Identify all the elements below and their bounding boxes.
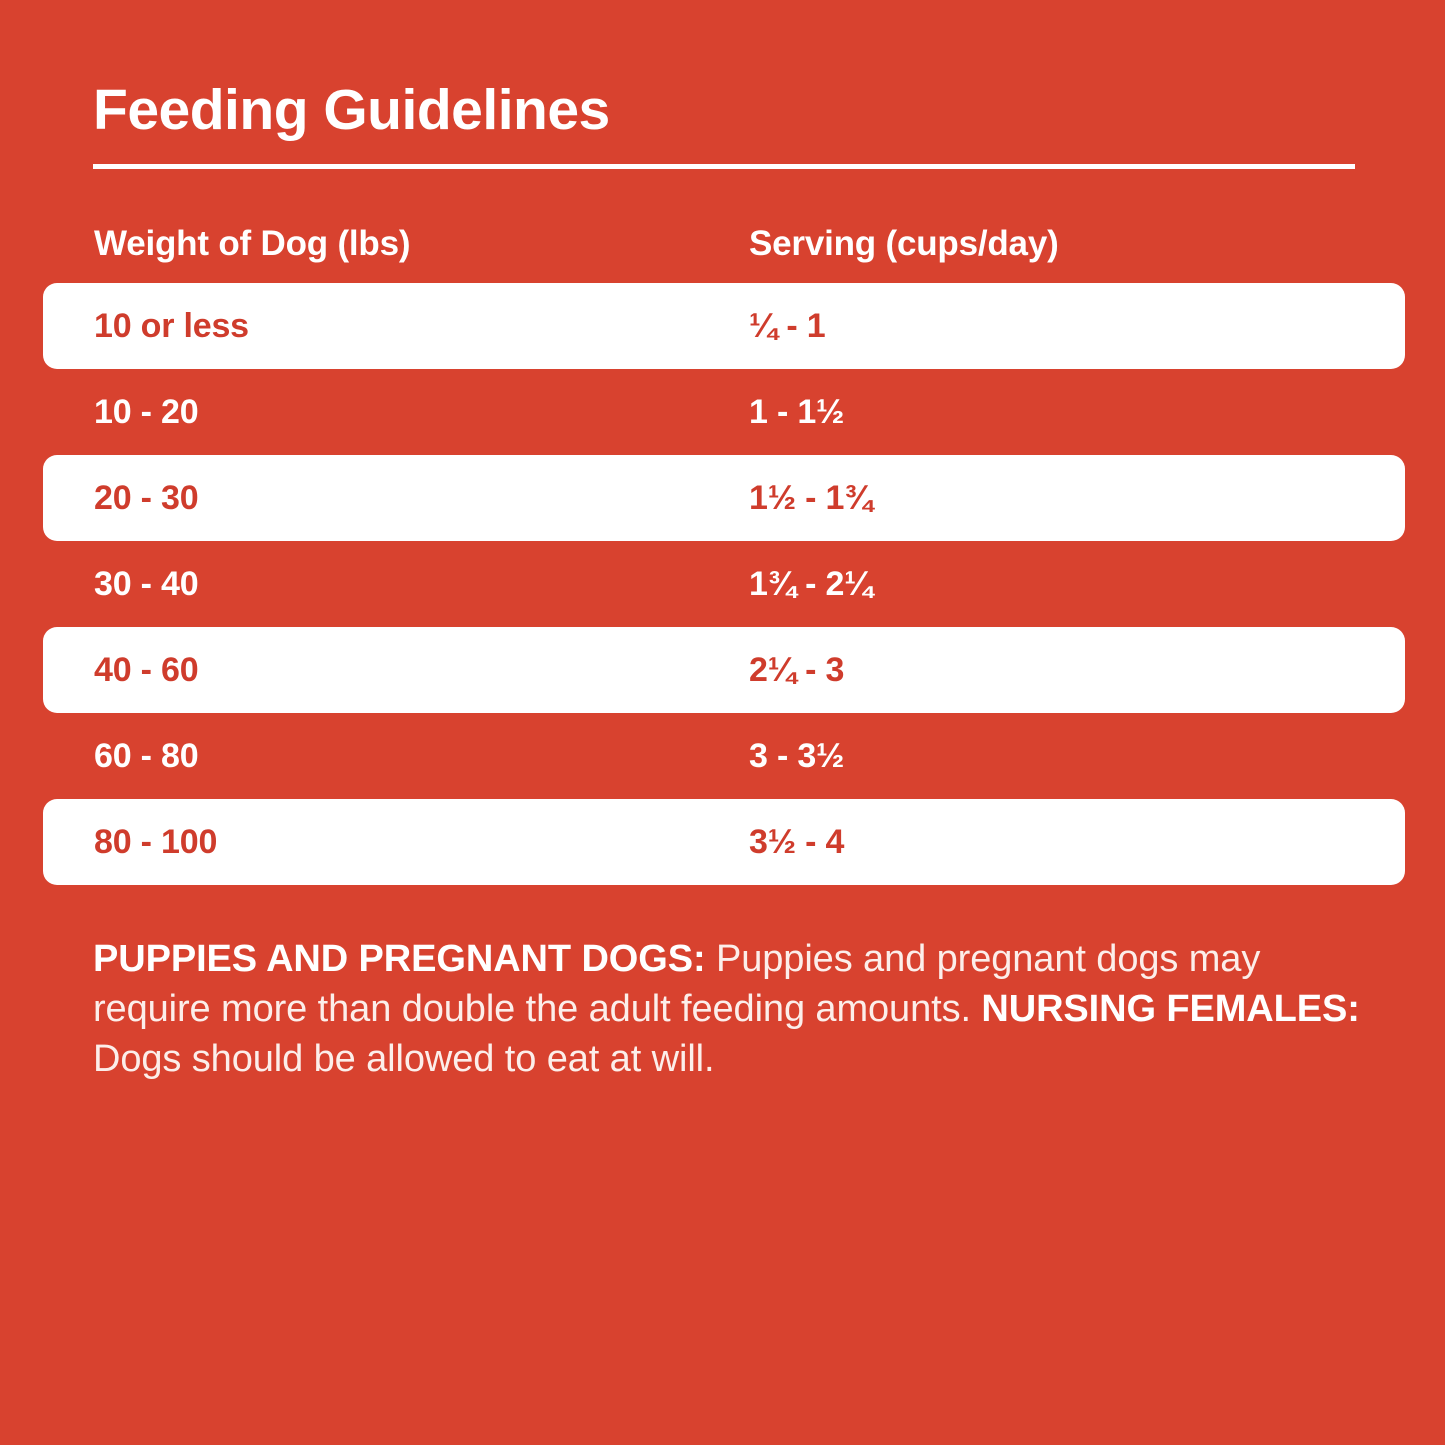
feeding-guidelines-panel: Feeding Guidelines Weight of Dog (lbs) S… [0,0,1445,1445]
cell-serving: 1¾ - 2¼ [749,565,1405,604]
table-header-row: Weight of Dog (lbs) Serving (cups/day) [43,205,1405,283]
cell-weight: 60 - 80 [94,737,749,776]
cell-serving: 3 - 3½ [749,737,1405,776]
table-row: 80 - 100 3½ - 4 [43,799,1405,885]
table-row: 20 - 30 1½ - 1¾ [43,455,1405,541]
cell-weight: 10 - 20 [94,393,749,432]
column-header-weight: Weight of Dog (lbs) [94,224,749,264]
cell-serving: ¼ - 1 [749,307,1405,346]
table-row: 40 - 60 2¼ - 3 [43,627,1405,713]
title-divider [93,164,1355,169]
cell-serving: 1 - 1½ [749,393,1405,432]
cell-weight: 20 - 30 [94,479,749,518]
table-row: 10 or less ¼ - 1 [43,283,1405,369]
footnote-label-puppies: PUPPIES AND PREGNANT DOGS: [93,938,706,980]
cell-weight: 10 or less [94,307,749,346]
table-row: 60 - 80 3 - 3½ [43,713,1405,799]
table-row: 30 - 40 1¾ - 2¼ [43,541,1405,627]
cell-serving: 1½ - 1¾ [749,479,1405,518]
cell-weight: 30 - 40 [94,565,749,604]
table-row: 10 - 20 1 - 1½ [43,369,1405,455]
column-header-serving: Serving (cups/day) [749,224,1405,264]
footnote: PUPPIES AND PREGNANT DOGS: Puppies and p… [93,934,1363,1084]
cell-weight: 40 - 60 [94,651,749,690]
footnote-text-nursing: Dogs should be allowed to eat at will. [93,1038,714,1080]
cell-serving: 3½ - 4 [749,823,1405,862]
footnote-label-nursing: NURSING FEMALES: [981,988,1359,1030]
cell-serving: 2¼ - 3 [749,651,1405,690]
feeding-table: Weight of Dog (lbs) Serving (cups/day) 1… [43,205,1405,885]
cell-weight: 80 - 100 [94,823,749,862]
page-title: Feeding Guidelines [93,78,610,142]
